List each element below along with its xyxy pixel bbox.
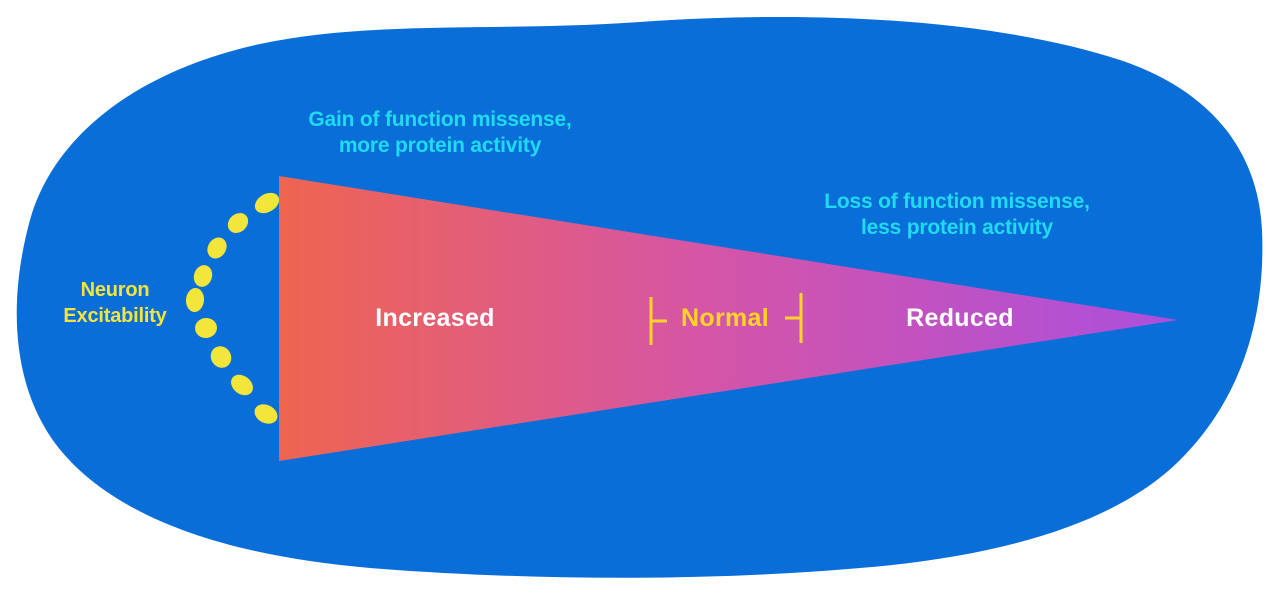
band-label-reduced: Reduced <box>845 303 1075 334</box>
label-neuron-excitability: Neuron Excitability <box>10 277 220 329</box>
band-label-increased: Increased <box>310 303 560 334</box>
callout-loss-of-function: Loss of function missense, less protein … <box>707 189 1207 240</box>
callout-gain-of-function: Gain of function missense, more protein … <box>190 107 690 158</box>
band-label-normal: Normal <box>640 303 810 334</box>
figure-canvas: Gain of function missense, more protein … <box>0 0 1283 602</box>
